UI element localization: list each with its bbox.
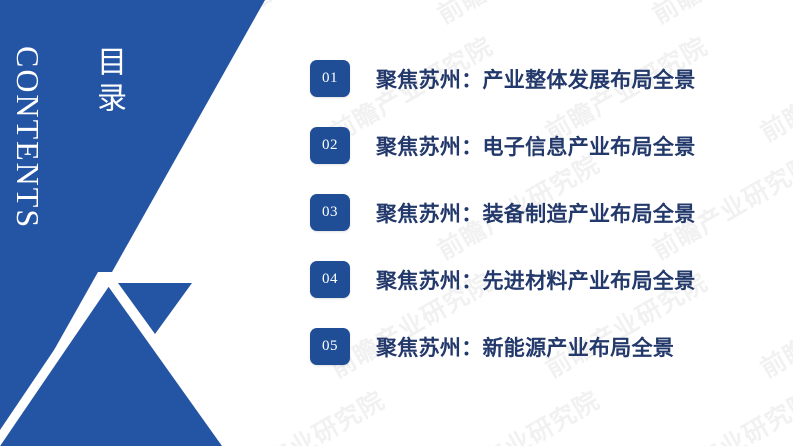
watermark-text: 前瞻产业研究院 (645, 381, 793, 446)
item-number-badge: 04 (310, 261, 350, 298)
item-number-badge: 01 (310, 60, 350, 97)
contents-item-01[interactable]: 01 聚焦苏州：产业整体发展布局全景 (310, 60, 780, 97)
watermark-text: 前瞻产业研究院 (430, 381, 606, 446)
contents-item-04[interactable]: 04 聚焦苏州：先进材料产业布局全景 (310, 261, 780, 298)
item-number-badge: 02 (310, 127, 350, 164)
contents-item-03[interactable]: 03 聚焦苏州：装备制造产业布局全景 (310, 194, 780, 231)
watermark-text: 前瞻产业研究院 (430, 0, 606, 31)
contents-slide: 前瞻产业研究院前瞻产业研究院前瞻产业研究院前瞻产业研究院前瞻产业研究院前瞻产业研… (0, 0, 793, 446)
item-label: 聚焦苏州：先进材料产业布局全景 (376, 265, 696, 295)
left-decorative-artwork (0, 0, 300, 446)
item-label: 聚焦苏州：新能源产业布局全景 (376, 332, 674, 362)
contents-item-05[interactable]: 05 聚焦苏州：新能源产业布局全景 (310, 328, 780, 365)
item-label: 聚焦苏州：产业整体发展布局全景 (376, 64, 696, 94)
watermark-text: 前瞻产业研究院 (645, 0, 793, 31)
contents-list: 01 聚焦苏州：产业整体发展布局全景 02 聚焦苏州：电子信息产业布局全景 03… (310, 60, 780, 365)
item-label: 聚焦苏州：电子信息产业布局全景 (376, 131, 696, 161)
item-number-badge: 03 (310, 194, 350, 231)
item-number-badge: 05 (310, 328, 350, 365)
item-label: 聚焦苏州：装备制造产业布局全景 (376, 198, 696, 228)
contents-item-02[interactable]: 02 聚焦苏州：电子信息产业布局全景 (310, 127, 780, 164)
